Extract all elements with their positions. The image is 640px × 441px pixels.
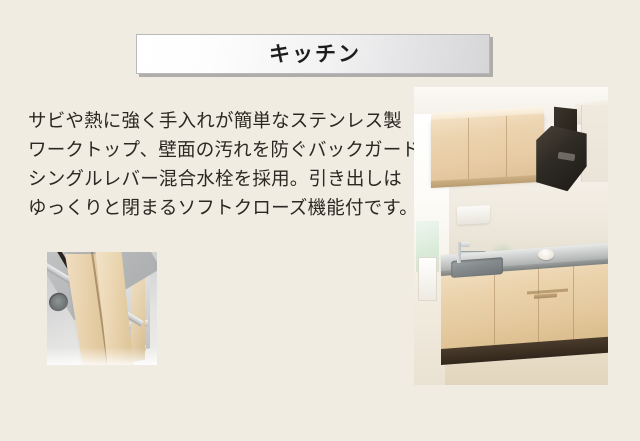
- description-text-block: サビや熱に強く手入れが簡単なステンレス製 ワークトップ、壁面の汚れを防ぐバックガ…: [28, 108, 420, 224]
- slide-page: キッチン サビや熱に強く手入れが簡単なステンレス製 ワークトップ、壁面の汚れを防…: [0, 0, 640, 441]
- chair: [418, 257, 437, 301]
- bowl-decor: [538, 249, 554, 260]
- thumb-bottom-fade: [47, 347, 157, 365]
- kitchen-main-photo-content: [414, 87, 608, 385]
- description-line-1: サビや熱に強く手入れが簡単なステンレス製: [28, 108, 420, 137]
- drawer-detail-photo-content: [47, 252, 157, 365]
- section-title-banner: キッチン: [136, 34, 490, 74]
- description-line-4: ゆっくりと閉まるソフトクローズ機能付です。: [28, 195, 420, 224]
- description-line-2: ワークトップ、壁面の汚れを防ぐバックガードや: [28, 137, 420, 166]
- air-conditioner: [457, 205, 490, 225]
- single-lever-faucet: [457, 242, 461, 263]
- kitchen-main-photo: [414, 87, 608, 385]
- description-line-3: シングルレバー混合水栓を採用。引き出しは: [28, 166, 420, 195]
- drawer-detail-photo: [47, 252, 157, 365]
- upper-wall-cabinets: [431, 113, 544, 185]
- page-title: キッチン: [265, 44, 361, 65]
